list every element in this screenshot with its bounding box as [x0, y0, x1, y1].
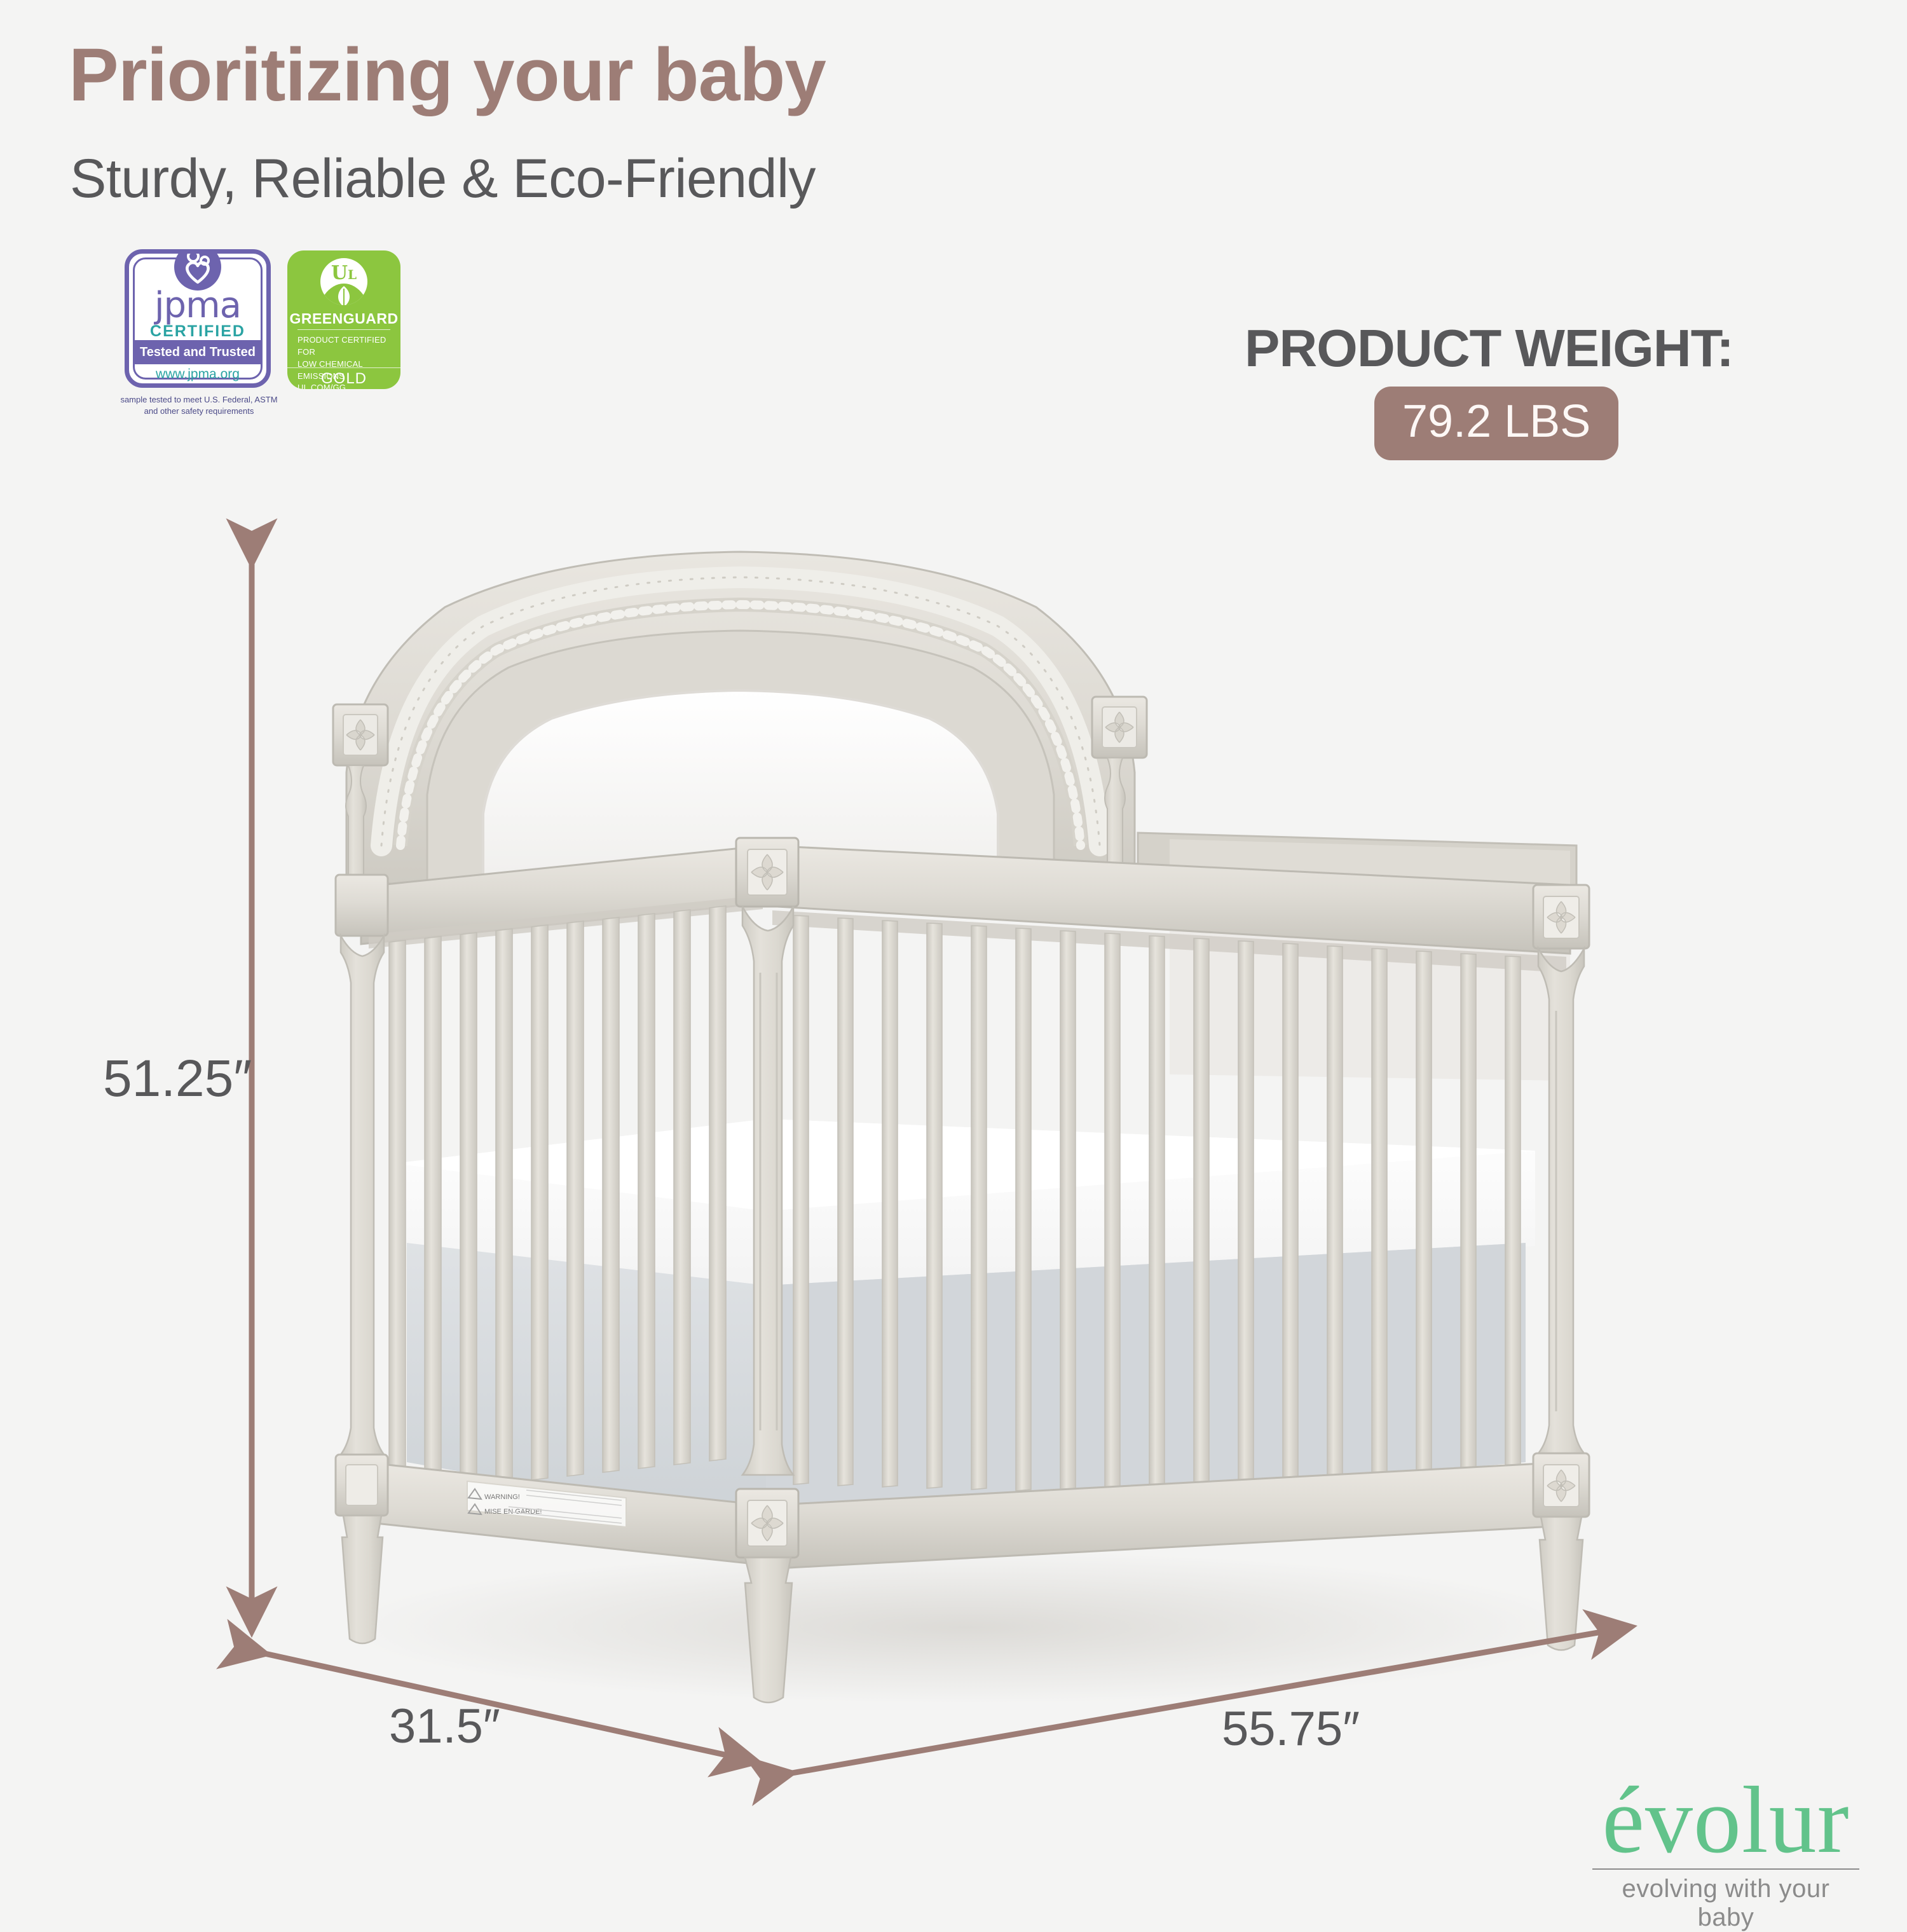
greenguard-level: GOLD: [287, 370, 400, 388]
dimension-width-label: 55.75″: [1222, 1701, 1360, 1757]
carved-rosette-block: [333, 704, 388, 765]
product-illustration: WARNING! MISE EN GARDE!: [0, 0, 1907, 1907]
jpma-wordmark: jpma: [129, 288, 266, 324]
product-weight-label: PRODUCT WEIGHT:: [1245, 318, 1733, 379]
greenguard-line: PRODUCT CERTIFIED FOR: [297, 334, 394, 359]
ul-letter-l: L: [348, 267, 357, 282]
parent-child-heart-icon: [174, 249, 221, 291]
brand-name: évolur: [1592, 1775, 1859, 1866]
page-headline: Prioritizing your baby: [69, 32, 826, 118]
jpma-certification-badge: jpma CERTIFIED Tested and Trusted www.jp…: [125, 249, 271, 388]
page-subheadline: Sturdy, Reliable & Eco-Friendly: [70, 147, 816, 210]
jpma-certified-text: CERTIFIED: [129, 322, 266, 341]
brand-logo: évolur evolving with your baby: [1592, 1775, 1859, 1932]
infographic-page: WARNING! MISE EN GARDE!: [0, 0, 1907, 1907]
crib-corner-post-left: [336, 875, 388, 1643]
ul-monogram: UL: [320, 264, 367, 283]
jpma-url: www.jpma.org: [129, 367, 266, 382]
ul-letter-u: U: [331, 262, 348, 284]
greenguard-divider: [297, 329, 390, 330]
svg-text:WARNING!: WARNING!: [484, 1493, 520, 1501]
ul-leaf-icon: UL: [320, 258, 367, 305]
jpma-tested-band: Tested and Trusted: [133, 340, 263, 364]
product-weight-value: 79.2 LBS: [1374, 387, 1618, 460]
greenguard-divider-bottom: [287, 367, 400, 368]
brand-tagline: evolving with your baby: [1592, 1875, 1859, 1932]
greenguard-title: GREENGUARD: [287, 310, 400, 327]
jpma-footnote: sample tested to meet U.S. Federal, ASTM…: [120, 394, 278, 416]
carved-rosette-block: [1092, 697, 1147, 758]
dimension-depth-label: 31.5″: [389, 1699, 500, 1754]
dimension-height-label: 51.25″: [103, 1049, 252, 1109]
leaf-shape: [333, 284, 355, 305]
greenguard-certification-badge: UL GREENGUARD PRODUCT CERTIFIED FOR LOW …: [287, 250, 400, 389]
